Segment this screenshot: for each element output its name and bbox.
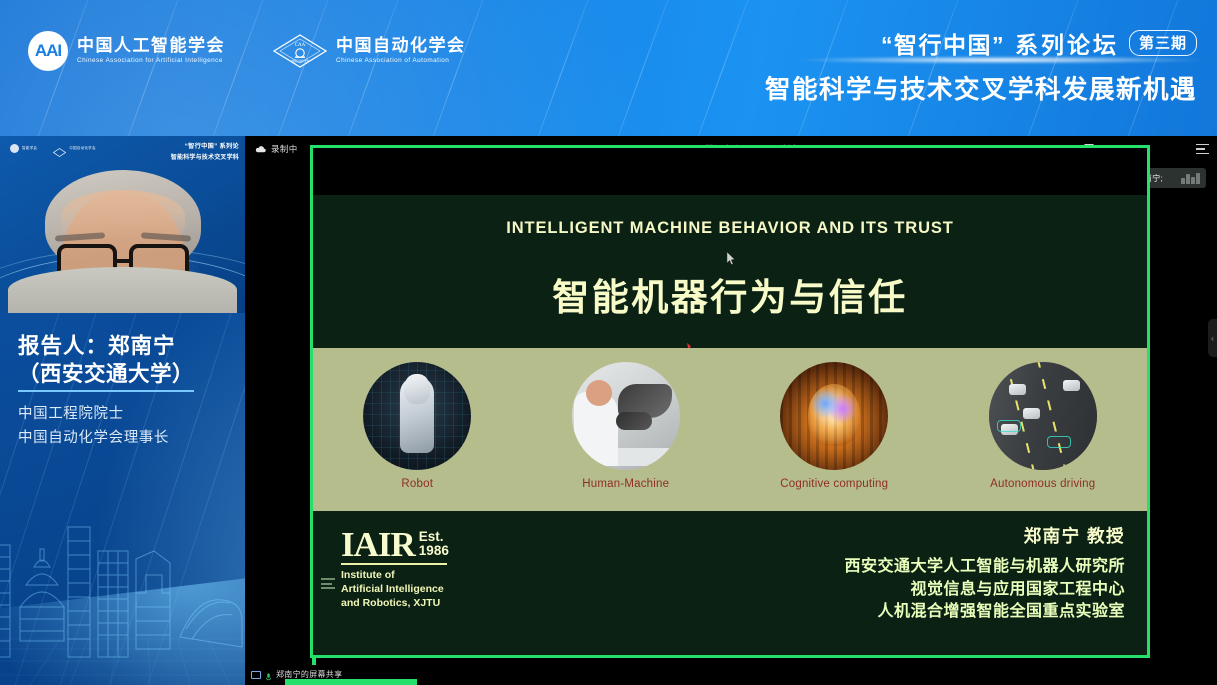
caai-name-en: Chinese Association for Artificial Intel… — [77, 58, 225, 64]
slide-title-en: INTELLIGENT MACHINE BEHAVIOR AND ITS TRU… — [313, 219, 1147, 238]
strip-caption: Human-Machine — [582, 478, 669, 490]
list-icon[interactable] — [321, 578, 335, 589]
humanoid-robot-photo — [363, 362, 471, 470]
screenshot-root: AAI 中国人工智能学会 Chinese Association for Art… — [0, 0, 1217, 685]
audio-waveform-icon — [1181, 173, 1200, 184]
caai-circle-logo-icon: AAI — [28, 31, 68, 71]
iair-wordmark: IAIR — [341, 530, 415, 560]
slide-footer-affiliation-block: 郑南宁 教授 西安交通大学人工智能与机器人研究所 视觉信息与应用国家工程中心 人… — [844, 523, 1125, 624]
grid-floor-decoration — [0, 615, 245, 685]
affiliation-line-3: 人机混合增强智能全国重点实验室 — [844, 601, 1125, 624]
share-indicator-tick — [312, 656, 316, 665]
speaker-affiliation: （西安交通大学） — [18, 360, 194, 391]
panel-list-icon[interactable] — [1196, 144, 1209, 154]
mini-banner-subtitle: 智能科学与技术交叉学科 — [171, 152, 239, 161]
recording-indicator-left: 录制中 — [255, 143, 298, 155]
banner-episode-badge: 第三期 — [1129, 30, 1197, 56]
highway-cars-photo — [989, 362, 1097, 470]
presenter-name: 郑南宁 教授 — [844, 523, 1125, 548]
webcam-mini-banner: 智能学会 中国自动化学会 “智行中国” 系列论 智能科学与技术交叉学科 — [0, 136, 245, 162]
slide-footer: IAIR Est. 1986 Institute of Artificial I… — [313, 511, 1147, 655]
glasses-bridge — [117, 259, 131, 263]
collapse-panel-chevron-icon[interactable]: ‹ — [1208, 319, 1217, 357]
banner-title-block: “智行中国” 系列论坛 第三期 智能科学与技术交叉学科发展新机遇 — [765, 26, 1197, 106]
organizer-logos: AAI 中国人工智能学会 Chinese Association for Art… — [28, 31, 466, 71]
logo-caa: CAA 中国自动化学会 中国自动化学会 Chinese Association … — [273, 34, 466, 68]
mini-caa-logo-icon — [53, 144, 66, 153]
share-indicator-bar — [285, 679, 417, 685]
speaker-title-1: 中国工程院院士 — [18, 403, 244, 427]
affiliation-line-2: 视觉信息与应用国家工程中心 — [844, 579, 1125, 602]
strip-cell: Robot — [313, 348, 522, 511]
speaker-name: 报告人：郑南宁 — [18, 332, 244, 360]
strip-cell: Cognitive computing — [730, 348, 939, 511]
iair-est-line-1: Est. — [419, 530, 449, 544]
mini-logo-1-label: 智能学会 — [22, 146, 37, 151]
svg-text:CAA: CAA — [295, 43, 306, 48]
recording-left-label: 录制中 — [271, 143, 298, 155]
logo-caai: AAI 中国人工智能学会 Chinese Association for Art… — [28, 31, 225, 71]
meeting-bottom-bar: 郑南宁的屏幕共享 — [245, 665, 1217, 685]
caa-diamond-logo-icon: CAA 中国自动化学会 — [273, 34, 327, 68]
presentation-slide: INTELLIGENT MACHINE BEHAVIOR AND ITS TRU… — [313, 148, 1147, 655]
iair-sub-line-1: Institute of — [341, 569, 449, 583]
caa-name-en: Chinese Association of Automation — [336, 58, 466, 64]
caai-name-cn: 中国人工智能学会 — [77, 37, 225, 54]
iair-sub-line-3: and Robotics, XJTU — [341, 597, 449, 611]
human-robot-arm-photo — [572, 362, 680, 470]
shirt — [8, 267, 237, 313]
iair-est-line-2: 1986 — [419, 544, 449, 558]
microphone-icon — [265, 669, 272, 680]
slide-title-cn: 智能机器行为与信任 — [313, 267, 1147, 321]
banner-title-quote: “智行中国” — [881, 26, 1005, 60]
banner-subtitle: 智能科学与技术交叉学科发展新机遇 — [765, 69, 1197, 106]
strip-caption: Cognitive computing — [780, 478, 888, 490]
cloud-icon — [255, 145, 266, 153]
speaker-sidebar: 智能学会 中国自动化学会 “智行中国” 系列论 智能科学与技术交叉学科 报告人：… — [0, 136, 245, 685]
slide-image-strip: Robot Human-Machine Cognit — [313, 348, 1147, 511]
speaker-info-block: 报告人：郑南宁 （西安交通大学） 中国工程院院士 中国自动化学会理事长 — [18, 332, 244, 451]
shared-screen-frame[interactable]: INTELLIGENT MACHINE BEHAVIOR AND ITS TRU… — [310, 145, 1150, 658]
strip-caption: Autonomous driving — [990, 478, 1095, 490]
svg-text:中国自动化学会: 中国自动化学会 — [291, 59, 310, 63]
glowing-brain-photo — [780, 362, 888, 470]
strip-cell: Human-Machine — [522, 348, 731, 511]
affiliation-line-1: 西安交通大学人工智能与机器人研究所 — [844, 556, 1125, 579]
caa-name-cn: 中国自动化学会 — [336, 37, 466, 54]
mouse-cursor-icon — [726, 252, 735, 265]
mini-caai-logo-icon — [10, 144, 19, 153]
strip-caption: Robot — [401, 478, 433, 490]
mini-logo-2-label: 中国自动化学会 — [69, 146, 96, 151]
strip-cell: Autonomous driving — [939, 348, 1148, 511]
speaker-title-2: 中国自动化学会理事长 — [18, 427, 244, 451]
iair-sub-line-2: Artificial Intelligence — [341, 583, 449, 597]
screen-share-icon — [251, 671, 261, 679]
speaker-webcam-tile[interactable]: 智能学会 中国自动化学会 “智行中国” 系列论 智能科学与技术交叉学科 — [0, 136, 245, 313]
event-banner: AAI 中国人工智能学会 Chinese Association for Art… — [0, 0, 1217, 136]
slide-header-bar — [313, 148, 1147, 195]
iair-logo: IAIR Est. 1986 Institute of Artificial I… — [341, 530, 449, 611]
banner-title-series: 系列论坛 — [1015, 26, 1119, 60]
mini-banner-title: “智行中国” 系列论 — [171, 141, 239, 150]
meeting-window: 录制中 腾讯会议 录制中 — [245, 136, 1217, 685]
